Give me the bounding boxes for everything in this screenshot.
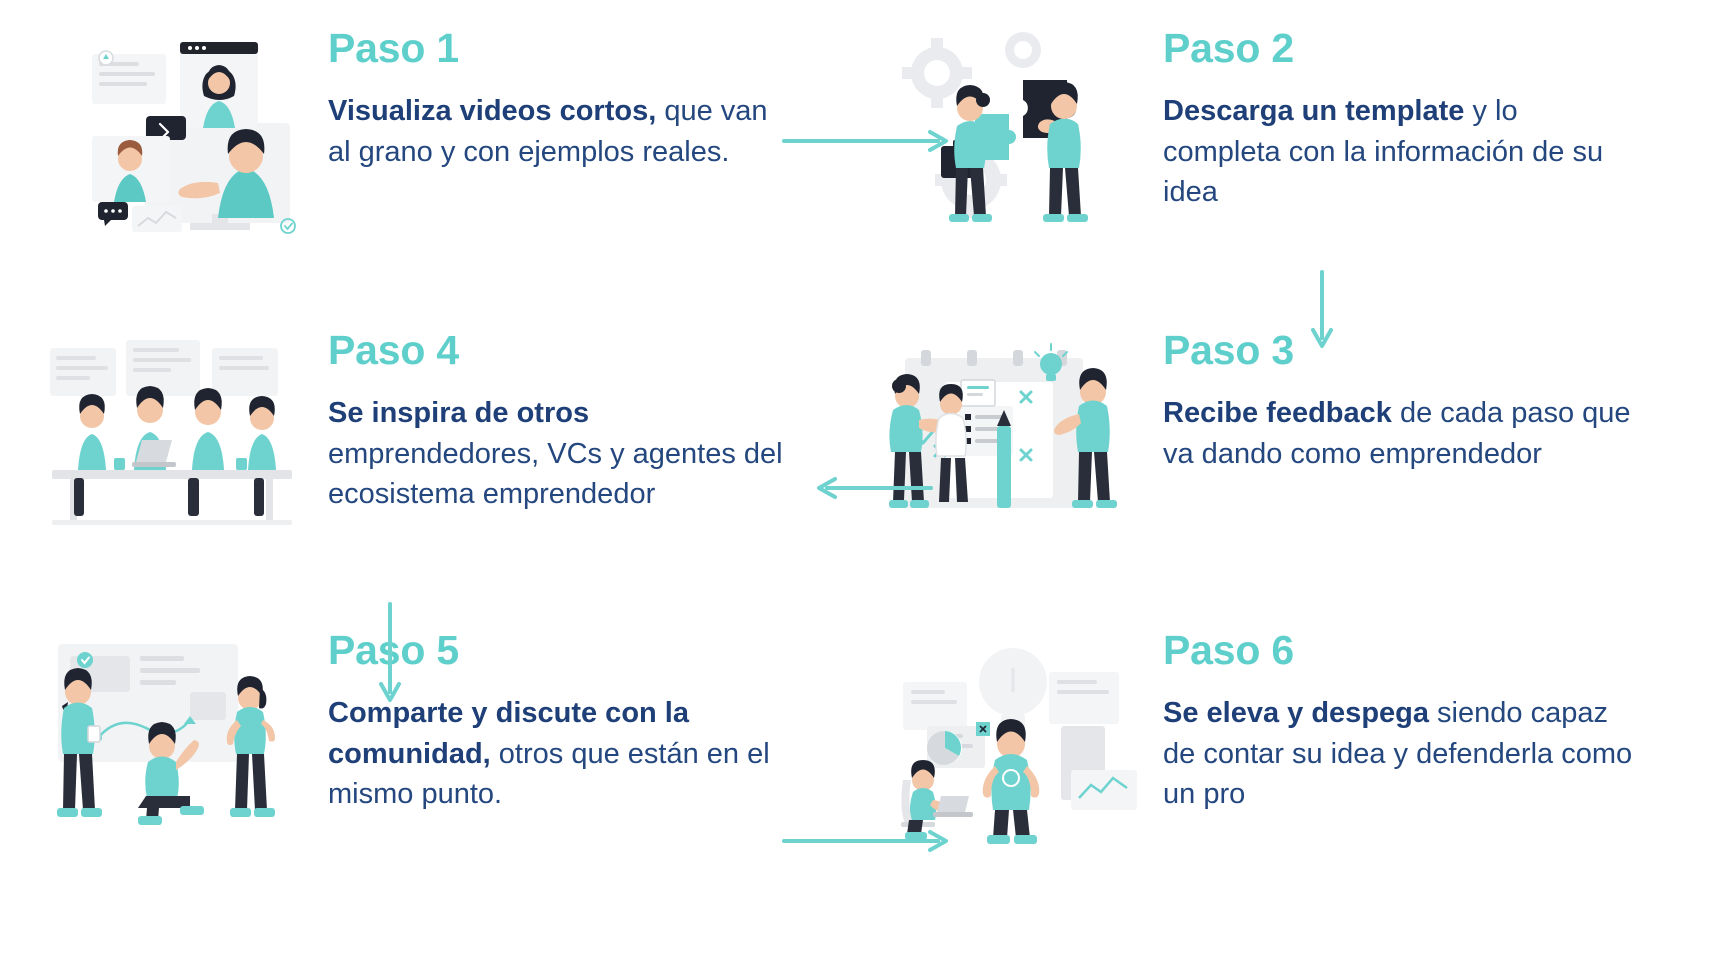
step-body-rest-4: emprendedores, VCs y agentes del ecosist… [328, 438, 783, 511]
step-title-1: Paso 1 [328, 28, 830, 69]
step-title-6: Paso 6 [1163, 630, 1705, 671]
arrow-step4-to-step5-icon [368, 600, 412, 715]
infographic-canvas: Paso 1 Visualiza videos cortos, que van … [0, 0, 1728, 972]
step-body-bold-6: Se eleva y despega [1163, 697, 1429, 729]
step-card-3: Paso 3 Recibe feedback de cada paso que … [875, 330, 1705, 545]
step-card-6: Paso 6 Se eleva y despega siendo capaz d… [875, 630, 1705, 845]
meeting-table-illustration [40, 330, 310, 545]
step-card-5: Paso 5 Comparte y discute con la comunid… [40, 630, 830, 845]
step-body-bold-4: Se inspira de otros [328, 397, 589, 429]
step-body-6: Se eleva y despega siendo capaz de conta… [1163, 693, 1633, 815]
step-title-3: Paso 3 [1163, 330, 1705, 371]
step-copy-6: Paso 6 Se eleva y despega siendo capaz d… [1145, 630, 1705, 815]
step-title-2: Paso 2 [1163, 28, 1705, 69]
step-card-2: Paso 2 Descarga un template y lo complet… [875, 28, 1705, 243]
arrow-step1-to-step2-icon [780, 126, 955, 161]
arrow-step3-to-step4-icon [815, 473, 935, 508]
step-card-1: Paso 1 Visualiza videos cortos, que van … [40, 28, 830, 243]
community-whiteboard-illustration [40, 630, 310, 845]
step-body-3: Recibe feedback de cada paso que va dand… [1163, 393, 1633, 474]
step-body-4: Se inspira de otros emprendedores, VCs y… [328, 393, 798, 515]
arrow-step2-to-step3-icon [1300, 268, 1344, 359]
step-body-bold-3: Recibe feedback [1163, 397, 1392, 429]
step-body-bold-2: Descarga un template [1163, 95, 1464, 127]
arrow-step5-to-step6-icon [780, 826, 955, 861]
step-title-4: Paso 4 [328, 330, 830, 371]
idea-presentation-illustration [875, 630, 1145, 845]
video-call-illustration [40, 28, 310, 243]
step-copy-2: Paso 2 Descarga un template y lo complet… [1145, 28, 1705, 213]
kanban-feedback-illustration [875, 330, 1145, 545]
step-body-2: Descarga un template y lo completa con l… [1163, 91, 1633, 213]
step-copy-3: Paso 3 Recibe feedback de cada paso que … [1145, 330, 1705, 474]
step-body-1: Visualiza videos cortos, que van al gran… [328, 91, 798, 172]
step-body-bold-1: Visualiza videos cortos, [328, 95, 656, 127]
step-card-4: Paso 4 Se inspira de otros emprendedores… [40, 330, 830, 545]
step-copy-4: Paso 4 Se inspira de otros emprendedores… [310, 330, 830, 515]
step-copy-1: Paso 1 Visualiza videos cortos, que van … [310, 28, 830, 172]
